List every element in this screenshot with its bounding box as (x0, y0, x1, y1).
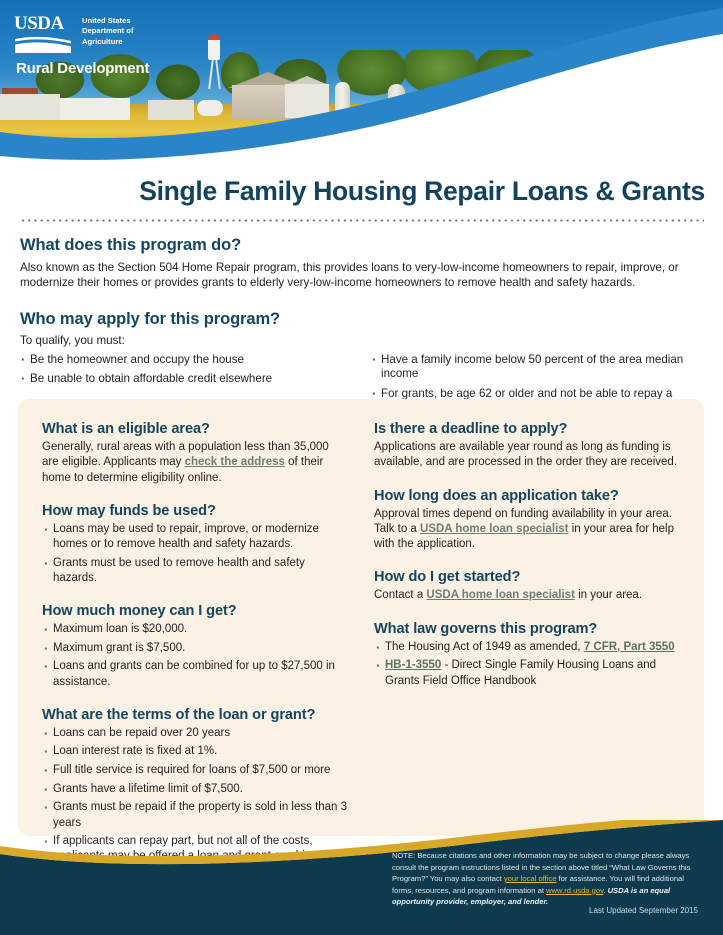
list-item: Loan interest rate is fixed at 1%. (42, 744, 348, 759)
usda-agency-line-2: Department of (82, 26, 172, 36)
section-heading-what-does: What does this program do? (20, 236, 704, 255)
list-item: Be the homeowner and occupy the house (20, 353, 353, 368)
list-item: The Housing Act of 1949 as amended, 7 CF… (374, 640, 680, 655)
faq-heading-law: What law governs this program? (374, 621, 680, 637)
faq-block-deadline: Is there a deadline to apply? Applicatio… (374, 421, 680, 471)
usda-home-loan-specialist-link[interactable]: USDA home loan specialist (426, 589, 574, 601)
faq-block-funds-used: How may funds be used? Loans may be used… (42, 503, 348, 586)
faq-block-how-long: How long does an application take? Appro… (374, 488, 680, 553)
faq-column-left: What is an eligible area? Generally, rur… (42, 421, 348, 882)
faq-heading-eligible-area: What is an eligible area? (42, 421, 348, 437)
faq-column-right: Is there a deadline to apply? Applicatio… (374, 421, 680, 882)
list-item: Loans can be repaid over 20 years (42, 726, 348, 741)
section-heading-who-may-apply: Who may apply for this program? (20, 310, 704, 329)
header-banner: USDA United States Department of Agricul… (0, 0, 723, 170)
qualify-lead-text: To qualify, you must: (20, 334, 704, 347)
faq-panel-columns: What is an eligible area? Generally, rur… (18, 399, 704, 882)
list-item: Have a family income below 50 percent of… (371, 353, 704, 383)
last-updated-text: Last Updated September 2015 (392, 906, 698, 915)
dotted-divider (20, 219, 704, 222)
faq-block-law: What law governs this program? The Housi… (374, 621, 680, 689)
list-item: Full title service is required for loans… (42, 763, 348, 778)
faq-heading-funds-used: How may funds be used? (42, 503, 348, 519)
usda-agency-line-1: United States (82, 16, 172, 26)
list-item: Be unable to obtain affordable credit el… (20, 372, 353, 387)
your-local-office-link[interactable]: your local office (504, 874, 557, 883)
usda-logo: USDA United States Department of Agricul… (14, 14, 174, 66)
faq-block-how-much: How much money can I get? Maximum loan i… (42, 603, 348, 690)
usda-agency-line-3: Agriculture (82, 37, 172, 47)
faq-panel: What is an eligible area? Generally, rur… (18, 399, 704, 836)
footer-note-text: NOTE: Because citations and other inform… (392, 850, 698, 908)
rd-usda-gov-link[interactable]: www.rd.usda.gov (546, 886, 603, 895)
hb-1-3550-link[interactable]: HB-1-3550 (385, 659, 441, 671)
faq-heading-get-started: How do I get started? (374, 569, 680, 585)
faq-block-get-started: How do I get started? Contact a USDA hom… (374, 569, 680, 603)
faq-text-how-long: Approval times depend on funding availab… (374, 507, 680, 553)
get-started-text-2: in your area. (575, 589, 642, 601)
list-item: Grants have a lifetime limit of $7,500. (42, 782, 348, 797)
list-item: Loans and grants can be combined for up … (42, 659, 348, 689)
faq-list-how-much: Maximum loan is $20,000. Maximum grant i… (42, 622, 348, 690)
list-item: Maximum loan is $20,000. (42, 622, 348, 637)
get-started-text-1: Contact a (374, 589, 426, 601)
law-item-1-text: The Housing Act of 1949 as amended, (385, 641, 584, 653)
faq-heading-how-long: How long does an application take? (374, 488, 680, 504)
faq-block-eligible-area: What is an eligible area? Generally, rur… (42, 421, 348, 486)
rural-development-title: Rural Development (16, 60, 149, 77)
spacer (20, 293, 704, 310)
list-item: Grants must be used to remove health and… (42, 556, 348, 586)
faq-text-deadline: Applications are available year round as… (374, 440, 680, 471)
faq-heading-how-much: How much money can I get? (42, 603, 348, 619)
check-the-address-link[interactable]: check the address (185, 456, 285, 468)
intro-sections: What does this program do? Also known as… (20, 236, 704, 422)
faq-list-law: The Housing Act of 1949 as amended, 7 CF… (374, 640, 680, 689)
usda-swoosh-icon (15, 36, 71, 53)
section-body-what-does: Also known as the Section 504 Home Repai… (20, 260, 704, 291)
cfr-part-3550-link[interactable]: 7 CFR, Part 3550 (584, 641, 675, 653)
list-item: Loans may be used to repair, improve, or… (42, 522, 348, 552)
faq-heading-terms: What are the terms of the loan or grant? (42, 707, 348, 723)
faq-heading-deadline: Is there a deadline to apply? (374, 421, 680, 437)
qualify-list-left: Be the homeowner and occupy the house Be… (20, 353, 353, 388)
usda-home-loan-specialist-link[interactable]: USDA home loan specialist (420, 523, 568, 535)
faq-list-funds-used: Loans may be used to repair, improve, or… (42, 522, 348, 586)
list-item: Maximum grant is $7,500. (42, 641, 348, 656)
faq-text-get-started: Contact a USDA home loan specialist in y… (374, 588, 680, 603)
list-item: HB-1-3550 - Direct Single Family Housing… (374, 658, 680, 688)
usda-agency-name: United States Department of Agriculture (82, 16, 172, 47)
faq-text-eligible-area: Generally, rural areas with a population… (42, 440, 348, 486)
page-title: Single Family Housing Repair Loans & Gra… (18, 176, 705, 207)
document-page: USDA United States Department of Agricul… (0, 0, 723, 935)
